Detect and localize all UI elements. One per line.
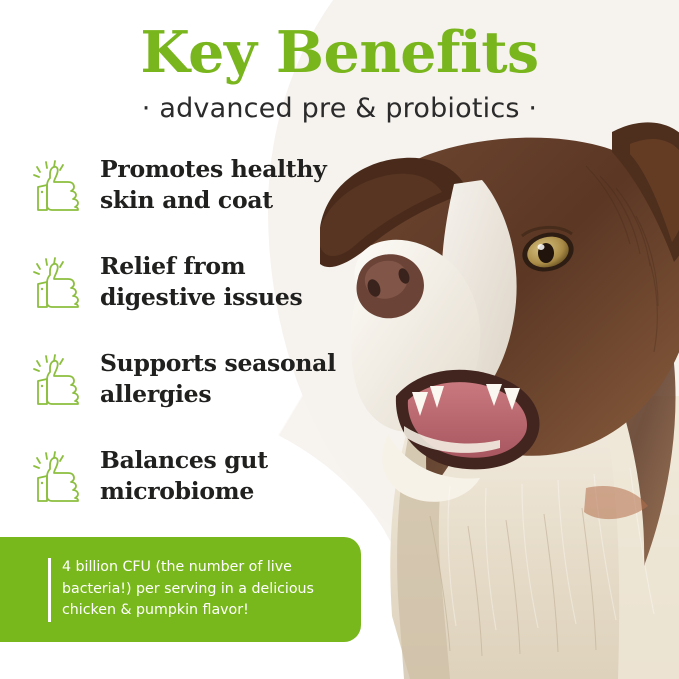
cfu-callout-box: 4 billion CFU (the number of live bacter…: [0, 537, 361, 642]
benefit-label: Supports seasonalallergies: [100, 346, 336, 410]
page-title: Key Benefits: [0, 24, 679, 81]
benefit-label: Relief fromdigestive issues: [100, 249, 302, 313]
thumbs-up-icon: [33, 156, 87, 214]
thumbs-up-icon: [33, 253, 87, 311]
benefit-label: Promotes healthyskin and coat: [100, 152, 326, 216]
thumbs-up-icon: [33, 350, 87, 408]
callout-accent-rule: [48, 558, 51, 622]
callout-text: 4 billion CFU (the number of live bacter…: [62, 557, 314, 622]
benefit-item: Supports seasonalallergies: [33, 346, 363, 422]
benefits-list: Promotes healthyskin and coat Relief fro…: [33, 152, 363, 540]
key-benefits-infographic: Key Benefits · advanced pre & probiotics…: [0, 0, 679, 679]
benefit-label: Balances gutmicrobiome: [100, 443, 268, 507]
benefit-item: Relief fromdigestive issues: [33, 249, 363, 325]
benefit-item: Promotes healthyskin and coat: [33, 152, 363, 228]
thumbs-up-icon: [33, 447, 87, 505]
page-subtitle: · advanced pre & probiotics ·: [0, 94, 679, 124]
benefit-item: Balances gutmicrobiome: [33, 443, 363, 519]
